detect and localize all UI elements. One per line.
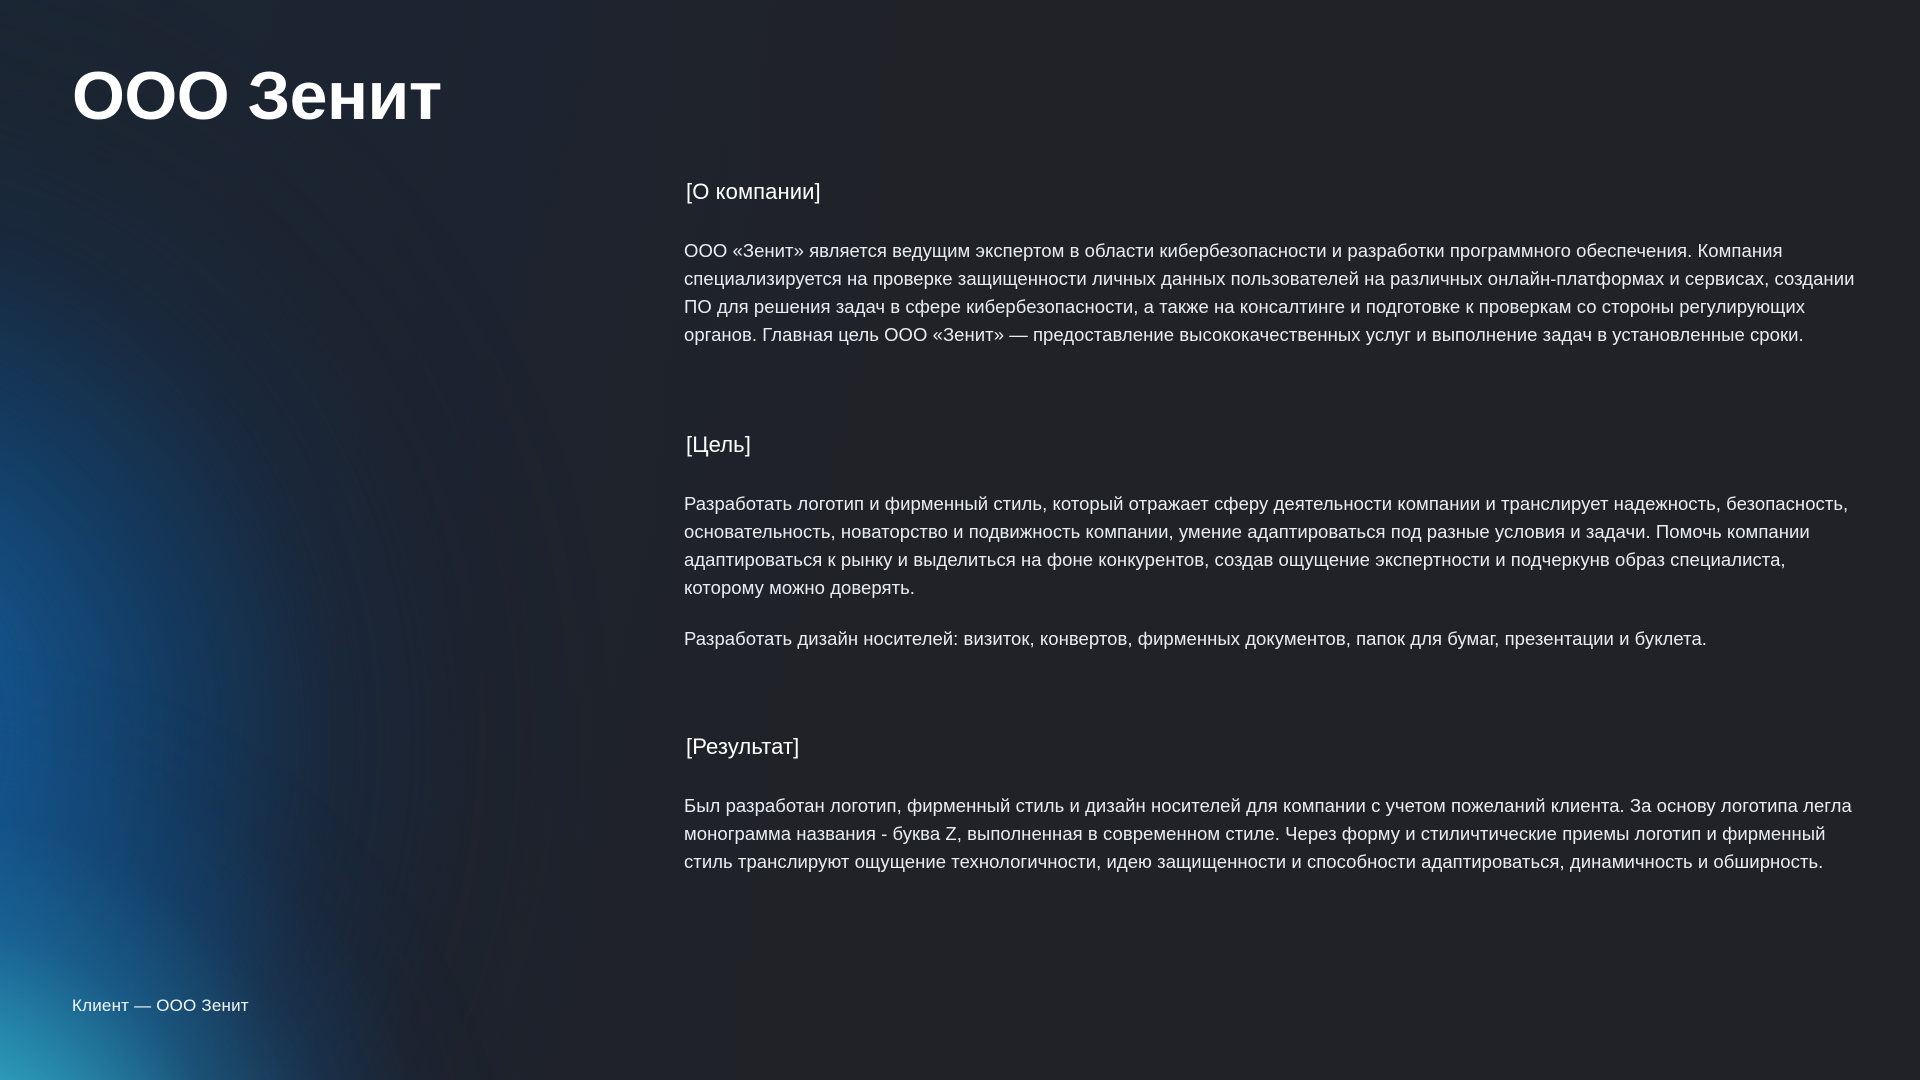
section-heading-result: [Результат]: [684, 733, 1864, 762]
section-body-goal-1: Разработать логотип и фирменный стиль, к…: [684, 490, 1864, 602]
section-body-result: Был разработан логотип, фирменный стиль …: [684, 792, 1864, 876]
page-title: ООО Зенит: [72, 60, 442, 133]
section-goal: [Цель] Разработать логотип и фирменный с…: [684, 431, 1864, 653]
spacer: [684, 207, 1864, 237]
section-heading-goal: [Цель]: [684, 431, 1864, 460]
presentation-slide: ООО Зенит [О компании] ООО «Зенит» являе…: [0, 0, 1920, 1080]
spacer: [684, 762, 1864, 792]
slide-content: ООО Зенит [О компании] ООО «Зенит» являе…: [0, 0, 1920, 1080]
section-about: [О компании] ООО «Зенит» является ведущи…: [684, 178, 1864, 349]
spacer: [684, 349, 1864, 431]
text-column: [О компании] ООО «Зенит» является ведущи…: [684, 178, 1864, 876]
section-body-goal-2: Разработать дизайн носителей: визиток, к…: [684, 625, 1864, 653]
section-body-about: ООО «Зенит» является ведущим экспертом в…: [684, 237, 1864, 349]
section-result: [Результат] Был разработан логотип, фирм…: [684, 733, 1864, 876]
section-heading-about: [О компании]: [684, 178, 1864, 207]
spacer: [684, 460, 1864, 490]
spacer: [684, 653, 1864, 733]
client-credit: Клиент — ООО Зенит: [72, 995, 249, 1017]
